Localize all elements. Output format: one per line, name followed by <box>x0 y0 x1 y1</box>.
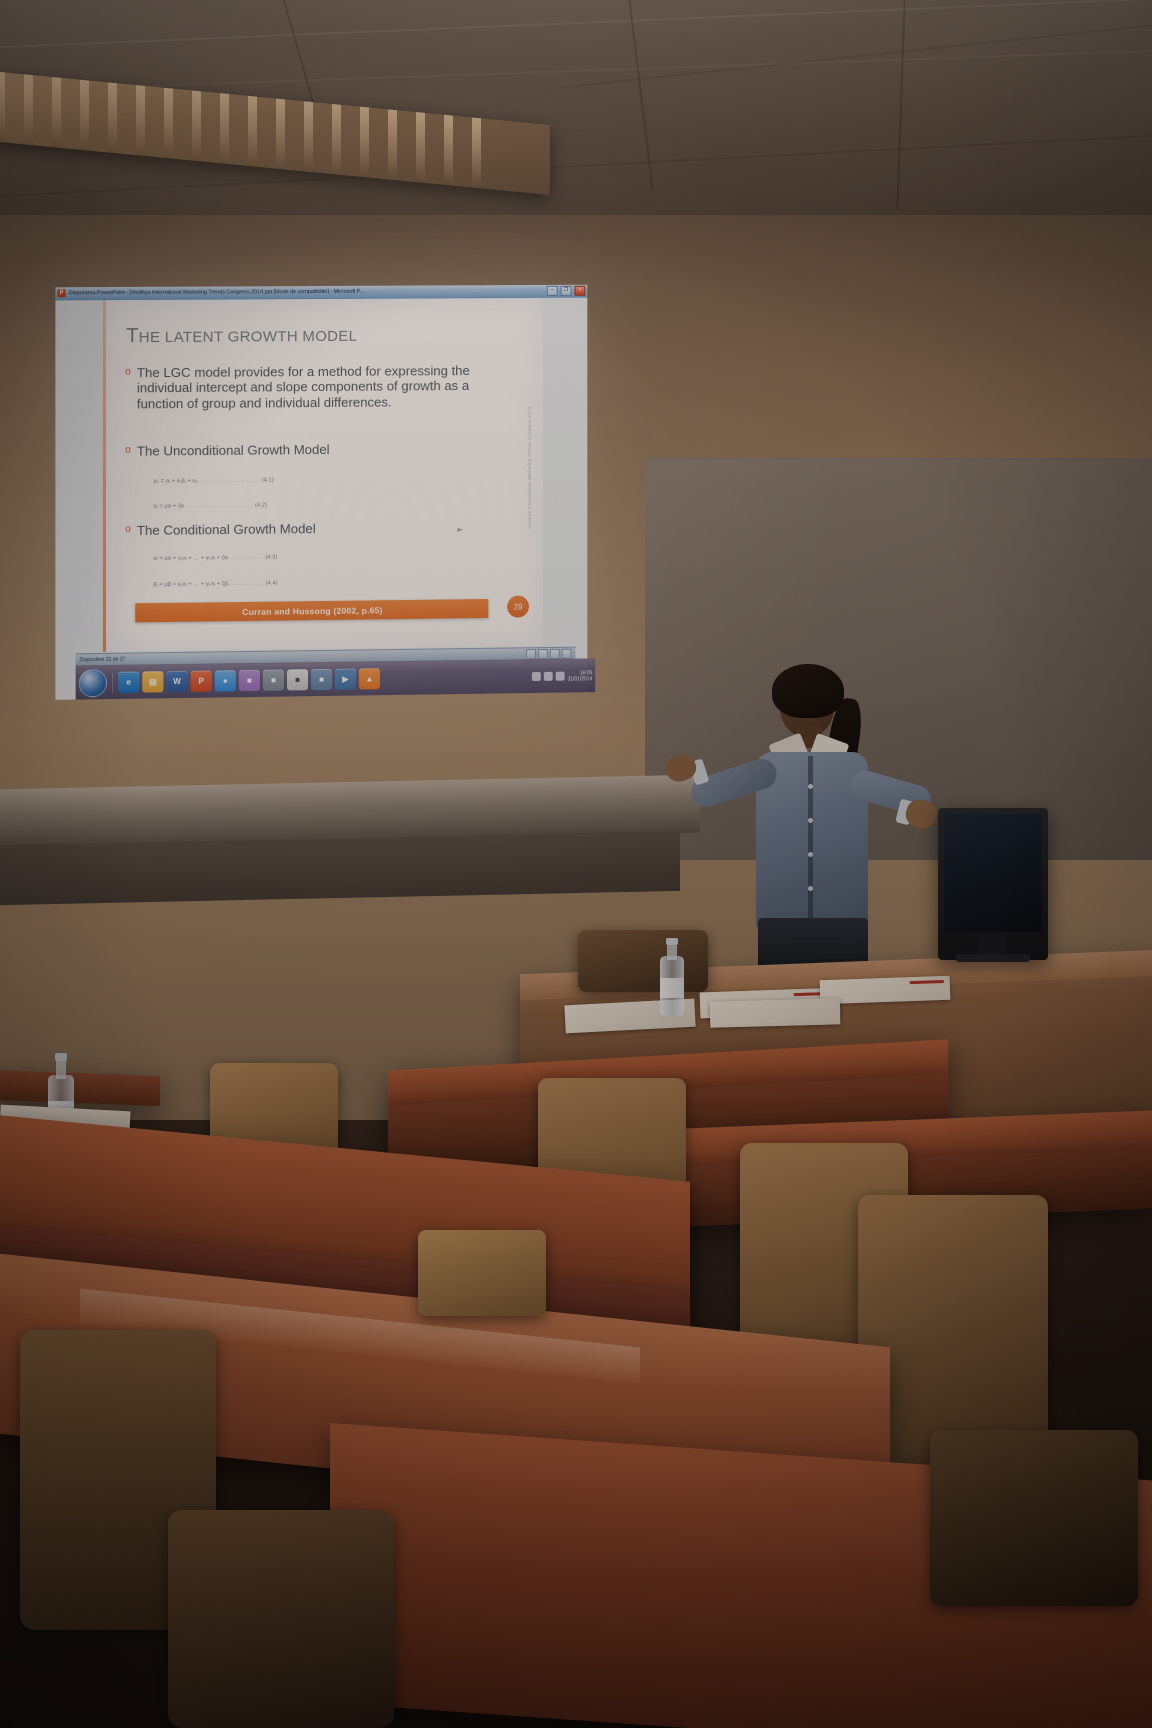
window-title: Diaporama PowerPoint - [Vindhya Internat… <box>69 288 544 296</box>
shirt-button <box>808 886 813 891</box>
desktop-monitor <box>938 808 1048 960</box>
taskbar-word[interactable]: W <box>166 671 187 692</box>
slide-number-badge: 29 <box>507 596 529 618</box>
start-button[interactable] <box>79 668 107 697</box>
monitor-screen <box>944 814 1042 932</box>
normal-view-icon[interactable] <box>526 649 536 659</box>
citation-banner: Curran and Hussong (2002, p.65) <box>135 599 488 622</box>
taskbar-media[interactable]: ▶ <box>335 669 356 690</box>
battery-icon[interactable] <box>556 672 565 681</box>
close-button[interactable]: × <box>574 286 585 296</box>
sorter-view-icon[interactable] <box>538 649 548 659</box>
taskbar-vlc[interactable]: ▲ <box>359 668 380 689</box>
slide-title-initial: T <box>126 325 139 347</box>
slide-side-note: Vindhya International Marketing Trends C… <box>527 409 537 529</box>
bullet-marker-icon: o <box>125 444 131 458</box>
classroom-chair <box>930 1430 1140 1610</box>
volume-icon[interactable] <box>544 672 553 681</box>
taskbar-divider <box>112 672 113 692</box>
taskbar-folder[interactable]: ▤ <box>142 671 163 692</box>
powerpoint-icon: P <box>57 289 65 297</box>
slide-bullet: o The Unconditional Growth Model <box>125 441 495 460</box>
taskbar-app7[interactable]: ■ <box>263 670 284 691</box>
shirt-button <box>808 784 813 789</box>
equation-line: αᵢ = μα + γ₁xᵢ + … + γₖxᵢ + ζαᵢ …………… (4… <box>153 555 277 562</box>
equation-leader: ……………………… <box>200 478 260 485</box>
monitor-base <box>956 954 1030 962</box>
bullet-text: The Unconditional Growth Model <box>137 442 330 459</box>
equation-leader: …………… <box>230 581 264 587</box>
slide-bullet: o The LGC model provides for a method fo… <box>125 363 495 412</box>
equation-number: (4.2) <box>255 503 267 509</box>
shirt-button <box>808 852 813 857</box>
slide-accent-bar <box>103 300 106 652</box>
equation-leader: …………… <box>230 555 264 561</box>
equation-line: yᵢₜ = αᵢ + λₜβᵢ + εᵢₜ ……………………… (4.1) <box>153 477 273 484</box>
slideshow-icon[interactable] <box>550 648 560 658</box>
slide-canvas: THE LATENT GROWTH MODEL o The LGC model … <box>103 298 543 652</box>
taskbar-app9[interactable]: ■ <box>311 669 332 690</box>
monitor-stand <box>978 934 1006 956</box>
slide-title: THE LATENT GROWTH MODEL <box>126 323 456 348</box>
presenter-hair <box>772 664 844 718</box>
classroom-chair <box>418 1230 548 1320</box>
system-tray: 16:05 31/01/2014 <box>532 670 592 683</box>
taskbar-powerpoint[interactable]: P <box>191 671 212 692</box>
equation-line: βᵢ = μβ + γ₁xᵢ + … + γₖxᵢ + ζβᵢ …………… (4… <box>153 581 277 588</box>
equation-number: (4.4) <box>266 581 278 587</box>
projected-desktop: P Diaporama PowerPoint - [Vindhya Intern… <box>55 285 587 700</box>
mouse-pointer-icon: ➢ <box>456 526 464 536</box>
taskbar-app8[interactable]: ■ <box>287 669 308 690</box>
water-bottle <box>660 938 684 1016</box>
slide-title-rest: HE LATENT GROWTH MODEL <box>139 328 357 346</box>
bullet-marker-icon: o <box>125 365 131 379</box>
equation-body: yᵢₜ = αᵢ + λₜβᵢ + εᵢₜ <box>153 478 198 484</box>
taskbar-app6[interactable]: ■ <box>239 670 260 691</box>
minimize-button[interactable]: – <box>547 286 558 296</box>
equation-number: (4.1) <box>262 477 274 483</box>
taskbar-chrome[interactable]: ● <box>215 670 236 691</box>
bullet-text: The LGC model provides for a method for … <box>137 363 495 412</box>
slide-bullet: o The Conditional Growth Model <box>125 519 495 538</box>
handout-papers <box>710 998 841 1027</box>
equation-leader: ………………………… <box>186 503 253 510</box>
taskbar-ie[interactable]: e <box>118 672 139 693</box>
fit-icon[interactable] <box>562 648 572 658</box>
bullet-marker-icon: o <box>125 523 131 537</box>
clock-date: 31/01/2014 <box>568 676 593 682</box>
shirt-button <box>808 818 813 823</box>
projection-screen: P Diaporama PowerPoint - [Vindhya Intern… <box>55 285 587 700</box>
taskbar-clock[interactable]: 16:05 31/01/2014 <box>568 670 593 682</box>
equation-body: αᵢ = μα + ζαᵢ <box>153 503 184 509</box>
equation-body: αᵢ = μα + γ₁xᵢ + … + γₖxᵢ + ζαᵢ <box>153 555 228 562</box>
classroom-table <box>0 1070 160 1106</box>
restore-button[interactable]: ❐ <box>561 286 572 296</box>
network-icon[interactable] <box>532 672 541 681</box>
bullet-text: The Conditional Growth Model <box>137 521 316 538</box>
lecture-room-scene: P Diaporama PowerPoint - [Vindhya Intern… <box>0 0 1152 1728</box>
equation-body: βᵢ = μβ + γ₁xᵢ + … + γₖxᵢ + ζβᵢ <box>153 581 228 588</box>
classroom-chair <box>168 1510 398 1728</box>
shirt-placket <box>808 756 813 926</box>
equation-number: (4.3) <box>265 555 277 561</box>
equation-line: αᵢ = μα + ζαᵢ ………………………… (4.2) <box>153 503 267 510</box>
